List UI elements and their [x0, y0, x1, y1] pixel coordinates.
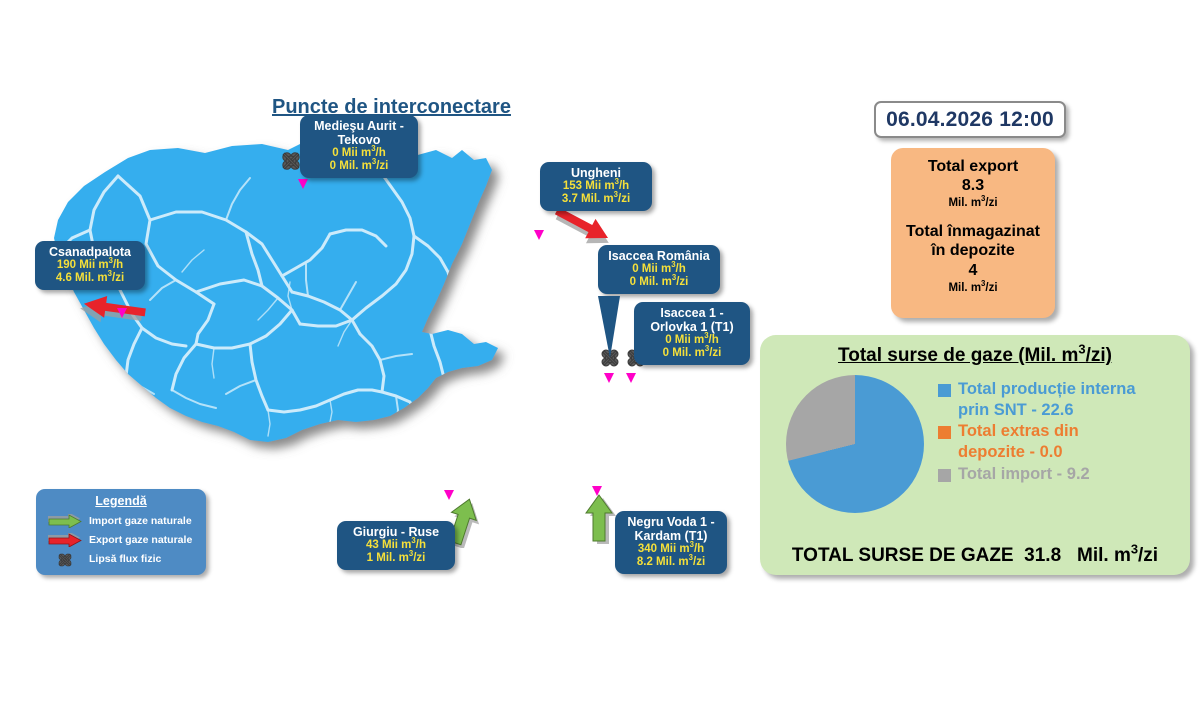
pie-chart — [786, 375, 924, 513]
green-arrow-icon — [48, 514, 82, 528]
callout-daily: 4.6 Mil. m3/zi — [44, 272, 136, 285]
callout-hourly: 340 Mii m3/h — [624, 543, 718, 556]
callout-hourly: 0 Mii m3/h — [607, 263, 711, 276]
callout-ungheni[interactable]: Ungheni 153 Mii m3/h 3.7 Mil. m3/zi — [540, 162, 652, 211]
legend-label-productie: Total producție interna prin SNT - 22.6 — [958, 379, 1136, 420]
callout-negru-voda-1-kardam[interactable]: Negru Voda 1 - Kardam (T1) 340 Mii m3/h … — [615, 511, 727, 574]
chart-legend-item-productie: Total producție interna prin SNT - 22.6 — [938, 379, 1136, 420]
border-pin-ungheni — [532, 228, 546, 242]
border-pin-csanadpalota — [115, 306, 129, 320]
callout-name: Isaccea România — [607, 249, 711, 263]
callout-daily: 0 Mil. m3/zi — [309, 160, 409, 173]
chart-legend-item-extras: Total extras din depozite - 0.0 — [938, 421, 1136, 462]
total-stored-label-line1: Total înmagazinat — [897, 222, 1049, 241]
callout-daily: 0 Mil. m3/zi — [643, 347, 741, 360]
danube-corridor — [430, 378, 444, 422]
callout-hourly: 190 Mii m3/h — [44, 259, 136, 272]
callout-name-line1: Medieşu Aurit - — [309, 119, 409, 133]
gas-sources-card: Total surse de gaze (Mil. m3/zi) Total p… — [760, 335, 1190, 575]
legend-item-no-flow: Lipsă flux fizic — [48, 550, 200, 567]
callout-name: Csanadpalota — [44, 245, 136, 259]
total-export-value: 8.3 — [897, 176, 1049, 196]
border-pin-giurgiu — [442, 488, 456, 502]
spacer — [897, 211, 1049, 222]
callout-isaccea-1-orlovka-1[interactable]: Isaccea 1 - Orlovka 1 (T1) 0 Mii m3/h 0 … — [634, 302, 750, 365]
callout-name-line1: Isaccea 1 - — [643, 306, 741, 320]
callout-hourly: 43 Mii m3/h — [346, 539, 446, 552]
callout-name-line1: Negru Voda 1 - — [624, 515, 718, 529]
callout-name-line2: Tekovo — [309, 133, 409, 147]
total-stored-label-line2: în depozite — [897, 241, 1049, 260]
callout-giurgiu-ruse[interactable]: Giurgiu - Ruse 43 Mii m3/h 1 Mil. m3/zi — [337, 521, 455, 570]
total-stored-unit: Mil. m3/zi — [897, 281, 1049, 296]
green-arrow-icon-negru-voda — [582, 493, 616, 545]
legend-item-label: Import gaze naturale — [89, 515, 192, 527]
callout-daily: 8.2 Mil. m3/zi — [624, 556, 718, 569]
callout-csanadpalota[interactable]: Csanadpalota 190 Mii m3/h 4.6 Mil. m3/zi — [35, 241, 145, 290]
totals-card: Total export 8.3 Mil. m3/zi Total înmaga… — [891, 148, 1055, 318]
legend-title: Legendă — [42, 494, 200, 508]
dashboard-stage: Puncte de interconectare — [0, 0, 1200, 706]
callout-hourly: 153 Mii m3/h — [549, 180, 643, 193]
legend-label-line2: depozite - 0.0 — [958, 443, 1063, 461]
legend-item-label: Lipsă flux fizic — [89, 553, 161, 565]
legend-swatch-blue — [938, 384, 951, 397]
chart-legend-item-import: Total import - 9.2 — [938, 464, 1136, 485]
total-stored-value: 4 — [897, 261, 1049, 281]
callout-isaccea-romania[interactable]: Isaccea România 0 Mii m3/h 0 Mil. m3/zi — [598, 245, 720, 294]
callout-name: Giurgiu - Ruse — [346, 525, 446, 539]
total-export-unit: Mil. m3/zi — [897, 196, 1049, 211]
border-pin-isaccea-a — [602, 371, 616, 385]
callout-mediesu-aurit-tekovo[interactable]: Medieşu Aurit - Tekovo 0 Mii m3/h 0 Mil.… — [300, 115, 418, 178]
legend-label-import: Total import - 9.2 — [958, 464, 1090, 485]
footer-label: TOTAL SURSE DE GAZE — [792, 545, 1014, 566]
legend-label-line1: Total extras din — [958, 422, 1079, 440]
chart-footer: TOTAL SURSE DE GAZE 31.8 Mil. m3/zi — [760, 545, 1190, 567]
legend-swatch-orange — [938, 426, 951, 439]
legend-label-extras: Total extras din depozite - 0.0 — [958, 421, 1079, 462]
callout-daily: 0 Mil. m3/zi — [607, 276, 711, 289]
callout-hourly: 0 Mii m3/h — [643, 334, 741, 347]
legend-swatch-gray — [938, 469, 951, 482]
callout-name-line2: Kardam (T1) — [624, 529, 718, 543]
legend-item-import: Import gaze naturale — [48, 512, 200, 529]
border-pin-negru-voda — [590, 484, 604, 498]
callout-name: Ungheni — [549, 166, 643, 180]
chart-row: Total producție interna prin SNT - 22.6 … — [770, 373, 1180, 513]
border-pin-mediesu — [296, 177, 310, 191]
legend-box: Legendă Import gaze naturale Export gaze… — [36, 489, 206, 575]
red-arrow-icon-ungheni — [548, 205, 614, 249]
footer-unit: Mil. m3/zi — [1077, 545, 1158, 566]
callout-daily: 3.7 Mil. m3/zi — [549, 193, 643, 206]
legend-label-line2: prin SNT - 22.6 — [958, 401, 1074, 419]
no-flow-icon — [48, 551, 82, 567]
footer-value: 31.8 — [1024, 545, 1061, 566]
total-export-label: Total export — [897, 157, 1049, 176]
chart-legend: Total producție interna prin SNT - 22.6 … — [938, 379, 1136, 485]
chart-title: Total surse de gaze (Mil. m3/zi) — [770, 345, 1180, 367]
legend-item-label: Export gaze naturale — [89, 534, 192, 546]
legend-label-line1: Total producție interna — [958, 380, 1136, 398]
callout-hourly: 0 Mii m3/h — [309, 147, 409, 160]
red-arrow-icon — [48, 533, 82, 547]
timestamp-badge: 06.04.2026 12:00 — [874, 101, 1066, 138]
callout-name-line2: Orlovka 1 (T1) — [643, 320, 741, 334]
callout-daily: 1 Mil. m3/zi — [346, 552, 446, 565]
legend-item-export: Export gaze naturale — [48, 531, 200, 548]
border-pin-isaccea-b — [624, 371, 638, 385]
